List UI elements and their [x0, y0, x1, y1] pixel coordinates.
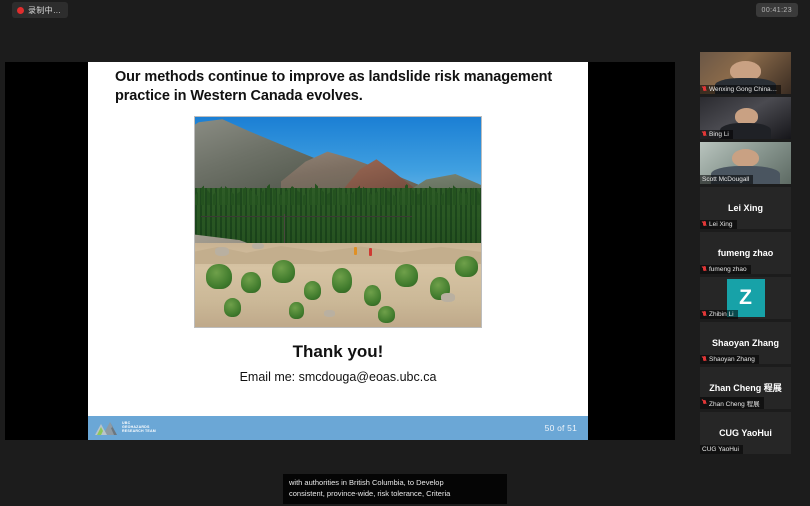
recording-indicator[interactable]: 录制中…	[12, 2, 68, 18]
presentation-slide: Our methods continue to improve as lands…	[88, 62, 588, 440]
shrub	[241, 272, 261, 293]
shrub	[364, 285, 381, 306]
recording-label: 录制中…	[28, 5, 61, 16]
participant-name: Zhibin Li	[709, 311, 734, 318]
mic-muted-icon	[702, 131, 707, 138]
participant-name-bar: Zhibin Li	[700, 310, 738, 319]
shrub	[455, 256, 478, 277]
participant-name-bar: Wenxing Gong China…	[700, 85, 781, 94]
boulder	[252, 243, 263, 249]
shrub	[395, 264, 418, 287]
boulder	[215, 247, 229, 255]
participant-name: Scott McDougall	[702, 176, 749, 183]
slide-title: Our methods continue to improve as lands…	[115, 68, 566, 105]
boulder	[441, 293, 455, 301]
caption-line: consistent, province-wide, risk toleranc…	[289, 488, 501, 499]
participant-display-name: Zhan Cheng 程展	[706, 383, 785, 393]
mic-muted-icon	[702, 311, 707, 318]
meeting-timer: 00:41:23	[756, 3, 798, 17]
participant-tile[interactable]: Shaoyan Zhang Shaoyan Zhang	[700, 322, 791, 364]
participant-tile-active-speaker[interactable]: Scott McDougall	[700, 142, 791, 184]
shrub	[378, 306, 395, 323]
participant-name-bar: fumeng zhao	[700, 265, 751, 274]
slide-page-number: 50 of 51	[545, 423, 577, 433]
shrub	[289, 302, 303, 319]
recording-dot-icon	[17, 7, 24, 14]
mic-muted-icon	[702, 400, 707, 407]
mic-muted-icon	[702, 266, 707, 273]
landslide-photo	[194, 116, 482, 328]
meeting-top-bar: 录制中… 00:41:23	[0, 0, 810, 22]
participant-name: Wenxing Gong China…	[709, 86, 777, 93]
utility-pole	[284, 214, 286, 243]
contact-email: Email me: smcdouga@eoas.ubc.ca	[88, 370, 588, 384]
logo-line-3: RESEARCH TEAM	[122, 430, 156, 434]
mic-muted-icon	[702, 221, 707, 228]
participant-tile[interactable]: Z Zhibin Li	[700, 277, 791, 319]
shrub	[332, 268, 352, 293]
participant-name-bar: Bing Li	[700, 130, 733, 139]
person-figure	[354, 247, 357, 255]
shrub	[224, 298, 241, 317]
logo-wordmark: UBC GEOHAZARDS RESEARCH TEAM	[122, 422, 156, 433]
shared-screen-stage[interactable]: Our methods continue to improve as lands…	[5, 62, 675, 440]
participant-tile[interactable]: Lei Xing Lei Xing	[700, 187, 791, 229]
face-shape	[732, 149, 759, 167]
shrub	[304, 281, 321, 300]
participant-name: Lei Xing	[709, 221, 733, 228]
power-line	[201, 216, 413, 217]
participant-name-bar: Scott McDougall	[700, 175, 753, 184]
shrub	[206, 264, 232, 289]
participant-name: CUG YaoHui	[702, 446, 739, 453]
ubc-geohazards-logo: UBC GEOHAZARDS RESEARCH TEAM	[94, 420, 156, 436]
participant-name: fumeng zhao	[709, 266, 747, 273]
closed-captions: with authorities in British Columbia, to…	[283, 474, 507, 504]
mic-muted-icon	[702, 86, 707, 93]
thank-you-heading: Thank you!	[88, 342, 588, 362]
mic-muted-icon	[702, 356, 707, 363]
participant-display-name: Shaoyan Zhang	[709, 338, 782, 348]
participant-filmstrip[interactable]: Wenxing Gong China… Bing Li Scott McDoug…	[700, 52, 791, 482]
participant-display-name: CUG YaoHui	[716, 428, 775, 438]
caption-line: with authorities in British Columbia, to…	[289, 477, 501, 488]
participant-name-bar: Shaoyan Zhang	[700, 355, 759, 364]
participant-tile[interactable]: Zhan Cheng 程展 Zhan Cheng 程展	[700, 367, 791, 409]
zoom-meeting-window: 录制中… 00:41:23 Our methods continue to im…	[0, 0, 810, 506]
participant-name-bar: Lei Xing	[700, 220, 737, 229]
participant-name: Zhan Cheng 程展	[709, 398, 760, 408]
participant-name-bar: CUG YaoHui	[700, 445, 743, 454]
participant-tile[interactable]: Wenxing Gong China…	[700, 52, 791, 94]
participant-tile[interactable]: CUG YaoHui CUG YaoHui	[700, 412, 791, 454]
participant-name: Bing Li	[709, 131, 729, 138]
mountain-logo-icon	[94, 420, 119, 436]
shrub	[272, 260, 295, 283]
participant-tile[interactable]: fumeng zhao fumeng zhao	[700, 232, 791, 274]
participant-display-name: fumeng zhao	[715, 248, 777, 258]
participant-tile[interactable]: Bing Li	[700, 97, 791, 139]
participant-name-bar: Zhan Cheng 程展	[700, 397, 764, 409]
participant-display-name: Lei Xing	[725, 203, 766, 213]
participant-name: Shaoyan Zhang	[709, 356, 755, 363]
slide-footer: UBC GEOHAZARDS RESEARCH TEAM 50 of 51	[88, 416, 588, 440]
boulder	[324, 310, 335, 316]
